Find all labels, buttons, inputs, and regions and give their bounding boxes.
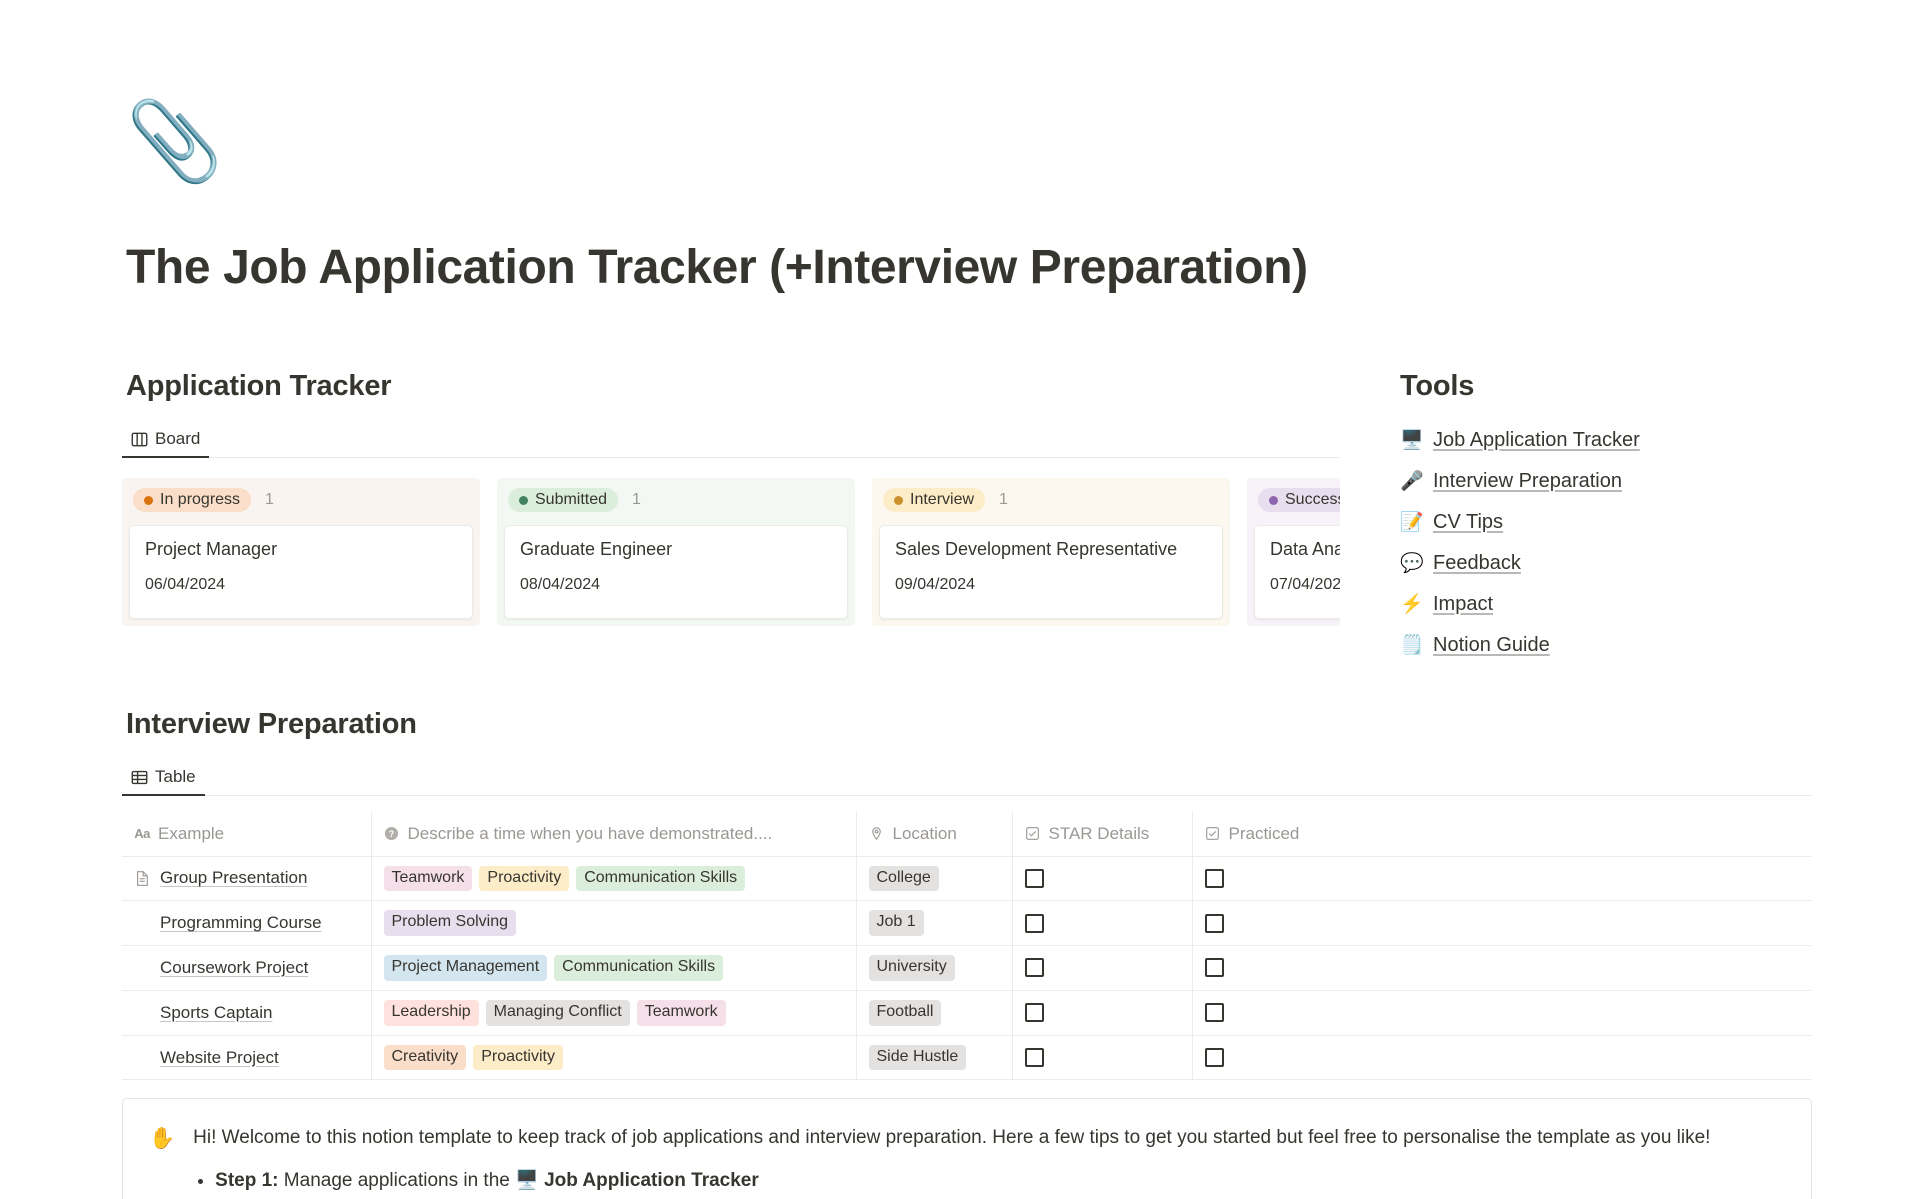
- tools-heading: Tools: [1400, 370, 1474, 403]
- board-column: Interview1Sales Development Representati…: [872, 478, 1230, 626]
- board-card[interactable]: Data Analyst07/04/2024: [1254, 525, 1340, 619]
- status-dot-icon: [894, 496, 903, 505]
- practiced-checkbox[interactable]: [1205, 1003, 1224, 1022]
- tool-link-label: Impact: [1433, 593, 1493, 616]
- status-badge[interactable]: Interview: [883, 488, 985, 512]
- bullet-link[interactable]: Job Application Tracker: [544, 1170, 759, 1191]
- status-label: Interview: [910, 492, 974, 508]
- tool-link-cv-tips[interactable]: 📝CV Tips: [1400, 502, 1880, 543]
- example-label: Coursework Project: [160, 958, 308, 978]
- tool-link-job-application-tracker[interactable]: 🖥️Job Application Tracker: [1400, 420, 1880, 461]
- column-header-practiced-label: Practiced: [1229, 824, 1300, 844]
- status-label: In progress: [160, 492, 240, 508]
- column-count: 1: [265, 491, 274, 509]
- page-icon[interactable]: 📎: [126, 102, 223, 180]
- skill-tag[interactable]: Teamwork: [384, 866, 473, 892]
- tool-emoji-icon: 🎤: [1400, 472, 1423, 491]
- board-column-header: Submitted1: [504, 486, 848, 514]
- tab-board-label: Board: [155, 429, 200, 449]
- tool-link-impact[interactable]: ⚡Impact: [1400, 584, 1880, 625]
- cell-location[interactable]: College: [856, 856, 1012, 901]
- status-dot-icon: [1269, 496, 1278, 505]
- skill-tag[interactable]: Proactivity: [479, 866, 569, 892]
- tool-link-label: Interview Preparation: [1433, 470, 1622, 493]
- notion-page: 📎 The Job Application Tracker (+Intervie…: [0, 0, 1920, 1199]
- status-dot-icon: [144, 496, 153, 505]
- cell-practiced[interactable]: [1192, 990, 1812, 1035]
- cell-location[interactable]: Job 1: [856, 901, 1012, 946]
- application-tracker-heading: Application Tracker: [126, 370, 391, 403]
- page-title: The Job Application Tracker (+Interview …: [126, 240, 1308, 295]
- column-header-example[interactable]: Aa Example: [122, 812, 371, 856]
- skill-tag[interactable]: Creativity: [384, 1045, 467, 1071]
- cell-describe-tags[interactable]: Project ManagementCommunication Skills: [371, 946, 856, 991]
- table-view-icon: [131, 769, 148, 786]
- status-label: Submitted: [535, 492, 607, 508]
- board-column-header: In progress1: [129, 486, 473, 514]
- star-details-checkbox[interactable]: [1025, 914, 1044, 933]
- board-column: In progress1Project Manager06/04/2024: [122, 478, 480, 626]
- skill-tag[interactable]: Proactivity: [473, 1045, 563, 1071]
- cell-star-details[interactable]: [1012, 1035, 1192, 1080]
- board-card-title: Sales Development Representative: [895, 539, 1207, 560]
- welcome-callout: ✋ Hi! Welcome to this notion template to…: [122, 1098, 1812, 1199]
- tool-link-label: Job Application Tracker: [1433, 429, 1640, 452]
- column-header-describe[interactable]: ? Describe a time when you have demonstr…: [371, 812, 856, 856]
- tool-emoji-icon: 🖥️: [1400, 431, 1423, 450]
- status-badge[interactable]: Submitted: [508, 488, 618, 512]
- board-card-title: Project Manager: [145, 539, 457, 560]
- column-header-star-details-label: STAR Details: [1049, 824, 1150, 844]
- cell-location[interactable]: Football: [856, 990, 1012, 1035]
- cell-star-details[interactable]: [1012, 946, 1192, 991]
- cell-example[interactable]: Group Presentation: [122, 856, 371, 901]
- tools-list: 🖥️Job Application Tracker🎤Interview Prep…: [1400, 420, 1880, 666]
- cell-location[interactable]: Side Hustle: [856, 1035, 1012, 1080]
- text-property-icon: Aa: [134, 826, 150, 842]
- cell-example[interactable]: Coursework Project: [122, 946, 371, 991]
- column-header-practiced[interactable]: Practiced: [1192, 812, 1812, 856]
- tab-board[interactable]: Board: [122, 425, 209, 458]
- board-card[interactable]: Project Manager06/04/2024: [129, 525, 473, 619]
- tool-link-interview-preparation[interactable]: 🎤Interview Preparation: [1400, 461, 1880, 502]
- example-label: Sports Captain: [160, 1003, 272, 1023]
- tool-emoji-icon: 🗒️: [1400, 636, 1423, 655]
- cell-location[interactable]: University: [856, 946, 1012, 991]
- table-header-row: Aa Example ? Describe a time when you ha…: [122, 812, 1812, 856]
- tool-link-notion-guide[interactable]: 🗒️Notion Guide: [1400, 625, 1880, 666]
- tab-table[interactable]: Table: [122, 763, 205, 796]
- column-header-location[interactable]: Location: [856, 812, 1012, 856]
- star-details-checkbox[interactable]: [1025, 958, 1044, 977]
- tool-link-label: CV Tips: [1433, 511, 1503, 534]
- column-count: 1: [632, 491, 641, 509]
- skill-tag[interactable]: Managing Conflict: [486, 1000, 630, 1026]
- cell-example[interactable]: Sports Captain: [122, 990, 371, 1035]
- board-column: Successful1Data Analyst07/04/2024: [1247, 478, 1340, 626]
- cell-star-details[interactable]: [1012, 901, 1192, 946]
- example-label: Website Project: [160, 1048, 279, 1068]
- tab-table-label: Table: [155, 767, 196, 787]
- tool-emoji-icon: 💬: [1400, 554, 1423, 573]
- location-tag[interactable]: Job 1: [869, 910, 924, 936]
- cell-practiced[interactable]: [1192, 901, 1812, 946]
- raised-hand-icon: ✋: [149, 1123, 175, 1196]
- board-card[interactable]: Sales Development Representative09/04/20…: [879, 525, 1223, 619]
- column-header-star-details[interactable]: STAR Details: [1012, 812, 1192, 856]
- application-board[interactable]: In progress1Project Manager06/04/2024Sub…: [122, 478, 1340, 626]
- cell-practiced[interactable]: [1192, 856, 1812, 901]
- svg-text:?: ?: [389, 829, 394, 839]
- practiced-checkbox[interactable]: [1205, 914, 1224, 933]
- practiced-checkbox[interactable]: [1205, 869, 1224, 888]
- table-row[interactable]: Coursework ProjectProject ManagementComm…: [122, 946, 1812, 991]
- table-row[interactable]: Website ProjectCreativityProactivitySide…: [122, 1035, 1812, 1080]
- table-row[interactable]: Sports CaptainLeadershipManaging Conflic…: [122, 990, 1812, 1035]
- table-row[interactable]: Programming CourseProblem SolvingJob 1: [122, 901, 1812, 946]
- callout-text: Hi! Welcome to this notion template to k…: [193, 1123, 1710, 1152]
- status-dot-icon: [519, 496, 528, 505]
- map-pin-icon: [869, 826, 885, 842]
- tool-link-feedback[interactable]: 💬Feedback: [1400, 543, 1880, 584]
- practiced-checkbox[interactable]: [1205, 958, 1224, 977]
- board-column: Submitted1Graduate Engineer08/04/2024: [497, 478, 855, 626]
- tracker-view-tabs: Board: [122, 425, 1340, 458]
- board-card[interactable]: Graduate Engineer08/04/2024: [504, 525, 848, 619]
- preparation-view-tabs: Table: [122, 763, 1812, 796]
- table-row[interactable]: Group PresentationTeamworkProactivityCom…: [122, 856, 1812, 901]
- status-label: Successful: [1285, 492, 1340, 508]
- callout-body: Hi! Welcome to this notion template to k…: [193, 1123, 1710, 1196]
- board-column-header: Successful1: [1254, 486, 1340, 514]
- cell-describe-tags[interactable]: CreativityProactivity: [371, 1035, 856, 1080]
- skill-tag[interactable]: Communication Skills: [554, 955, 723, 981]
- board-column-header: Interview1: [879, 486, 1223, 514]
- example-label: Group Presentation: [160, 868, 307, 888]
- star-details-checkbox[interactable]: [1025, 1003, 1044, 1022]
- star-details-checkbox[interactable]: [1025, 1048, 1044, 1067]
- tool-emoji-icon: 📝: [1400, 513, 1423, 532]
- cell-describe-tags[interactable]: Problem Solving: [371, 901, 856, 946]
- cell-example[interactable]: Website Project: [122, 1035, 371, 1080]
- status-badge[interactable]: In progress: [133, 488, 251, 512]
- question-mark-icon: ?: [384, 826, 400, 842]
- callout-bullet-list: Step 1: Manage applications in the 🖥️ Jo…: [193, 1166, 1710, 1195]
- page-document-icon: [134, 870, 151, 887]
- tool-emoji-icon: ⚡: [1400, 595, 1423, 614]
- board-card-title: Data Analyst: [1270, 539, 1340, 560]
- location-tag[interactable]: Side Hustle: [869, 1045, 967, 1071]
- column-header-location-label: Location: [893, 824, 957, 844]
- column-header-example-label: Example: [158, 824, 224, 844]
- board-card-date: 08/04/2024: [520, 576, 832, 594]
- bullet-text: Manage applications in the 🖥️: [279, 1170, 545, 1191]
- cell-practiced[interactable]: [1192, 946, 1812, 991]
- location-tag[interactable]: College: [869, 866, 939, 892]
- bullet-step-label: Step 1:: [215, 1170, 278, 1191]
- cell-star-details[interactable]: [1012, 856, 1192, 901]
- board-card-date: 07/04/2024: [1270, 576, 1340, 594]
- board-view-icon: [131, 431, 148, 448]
- column-count: 1: [999, 491, 1008, 509]
- cell-describe-tags[interactable]: TeamworkProactivityCommunication Skills: [371, 856, 856, 901]
- skill-tag[interactable]: Problem Solving: [384, 910, 517, 936]
- column-header-describe-label: Describe a time when you have demonstrat…: [408, 824, 773, 844]
- location-tag[interactable]: University: [869, 955, 955, 981]
- cell-practiced[interactable]: [1192, 1035, 1812, 1080]
- board-card-date: 06/04/2024: [145, 576, 457, 594]
- skill-tag[interactable]: Leadership: [384, 1000, 479, 1026]
- tool-link-label: Notion Guide: [1433, 634, 1550, 657]
- checkbox-property-icon: [1025, 826, 1041, 842]
- interview-preparation-heading: Interview Preparation: [126, 708, 417, 741]
- checkbox-property-icon: [1205, 826, 1221, 842]
- cell-example[interactable]: Programming Course: [122, 901, 371, 946]
- skill-tag[interactable]: Teamwork: [637, 1000, 726, 1026]
- star-details-checkbox[interactable]: [1025, 869, 1044, 888]
- status-badge[interactable]: Successful: [1258, 488, 1340, 512]
- cell-star-details[interactable]: [1012, 990, 1192, 1035]
- practiced-checkbox[interactable]: [1205, 1048, 1224, 1067]
- tool-link-label: Feedback: [1433, 552, 1521, 575]
- cell-describe-tags[interactable]: LeadershipManaging ConflictTeamwork: [371, 990, 856, 1035]
- board-card-date: 09/04/2024: [895, 576, 1207, 594]
- list-item: Step 1: Manage applications in the 🖥️ Jo…: [215, 1166, 1710, 1195]
- board-card-title: Graduate Engineer: [520, 539, 832, 560]
- example-label: Programming Course: [160, 913, 322, 933]
- location-tag[interactable]: Football: [869, 1000, 942, 1026]
- skill-tag[interactable]: Project Management: [384, 955, 548, 981]
- interview-preparation-table: Aa Example ? Describe a time when you ha…: [122, 812, 1812, 1080]
- skill-tag[interactable]: Communication Skills: [576, 866, 745, 892]
